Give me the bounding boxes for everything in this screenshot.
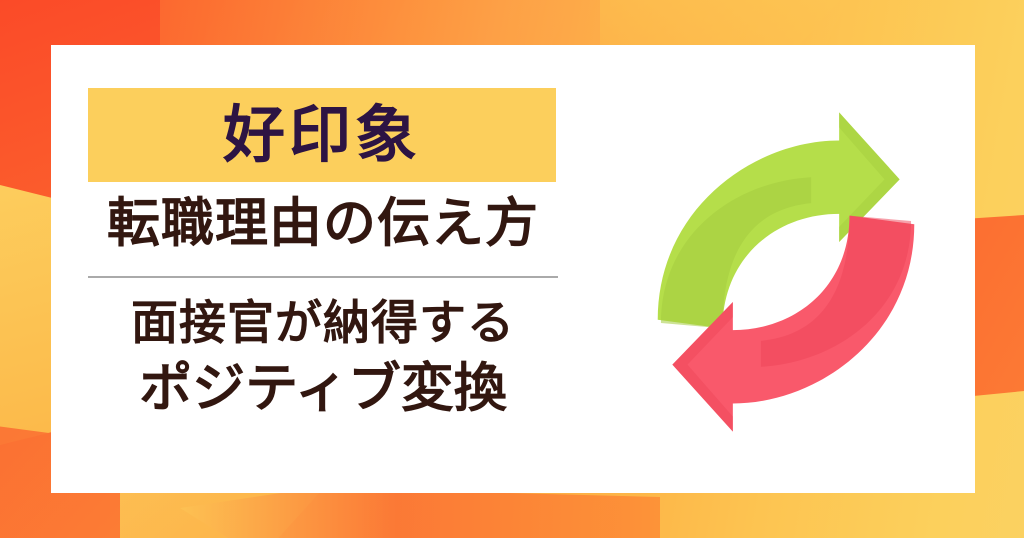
background-facet-bottom-center [180,488,660,538]
subtitle-line-1: 面接官が納得する [88,297,558,351]
subtitle-line-2: ポジティブ変換 [88,360,558,418]
thumbnail-canvas: 好印象 転職理由の伝え方 面接官が納得する ポジティブ変換 [0,0,1024,538]
text-column: 好印象 転職理由の伝え方 面接官が納得する ポジティブ変換 [88,45,598,493]
badge-label: 好印象 [223,104,421,166]
status-badge: 好印象 [88,88,556,182]
content-card: 好印象 転職理由の伝え方 面接官が納得する ポジティブ変換 [51,45,975,493]
page-title: 転職理由の伝え方 [88,195,558,252]
title-divider [88,276,558,278]
cycle-arrows-illustration [621,80,951,460]
